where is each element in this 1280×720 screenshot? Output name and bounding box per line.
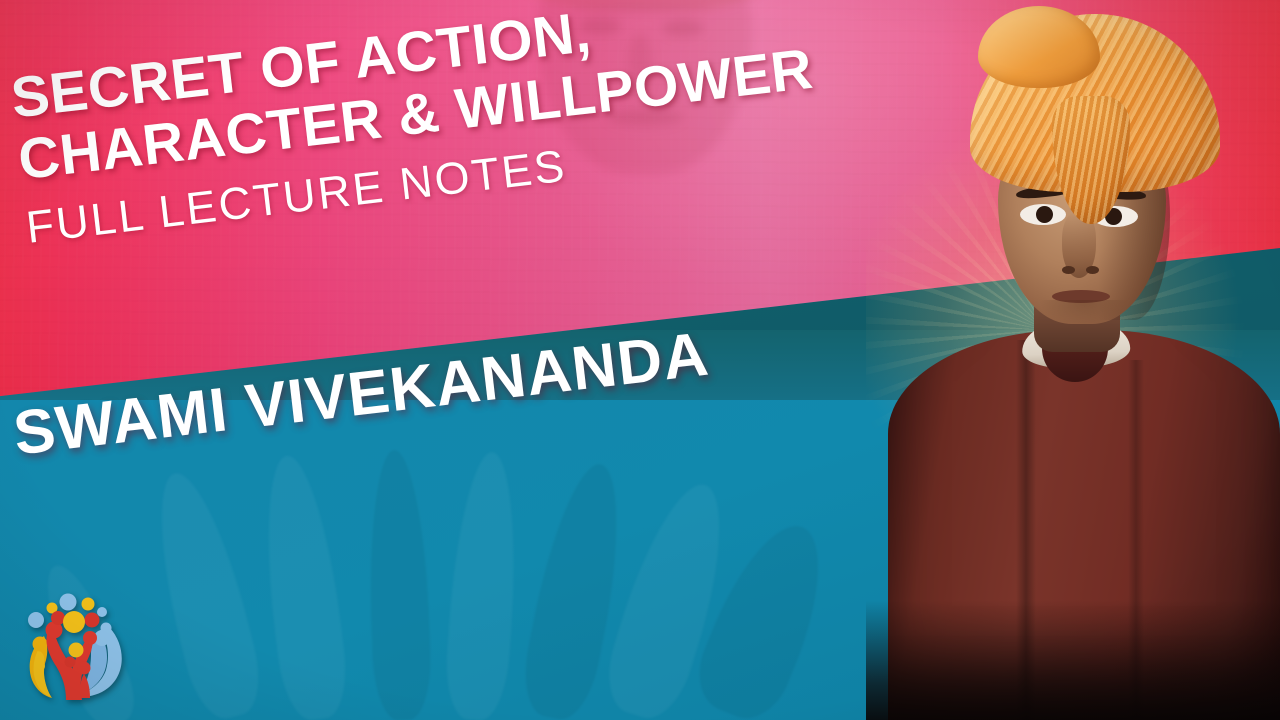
people-emblem-icon <box>14 588 134 708</box>
portrait-figure <box>866 0 1280 720</box>
turban-tail-lines <box>1052 96 1130 224</box>
turban-tail <box>1052 96 1130 224</box>
channel-logo[interactable] <box>14 588 134 708</box>
nostril-right <box>1086 266 1099 274</box>
chin-shadow <box>1038 300 1130 326</box>
thumbnail-canvas: SECRET OF ACTION, CHARACTER & WILLPOWER … <box>0 0 1280 720</box>
nostril-left <box>1062 266 1075 274</box>
iris-left <box>1036 206 1053 223</box>
robe-bottom-shadow <box>866 600 1280 720</box>
